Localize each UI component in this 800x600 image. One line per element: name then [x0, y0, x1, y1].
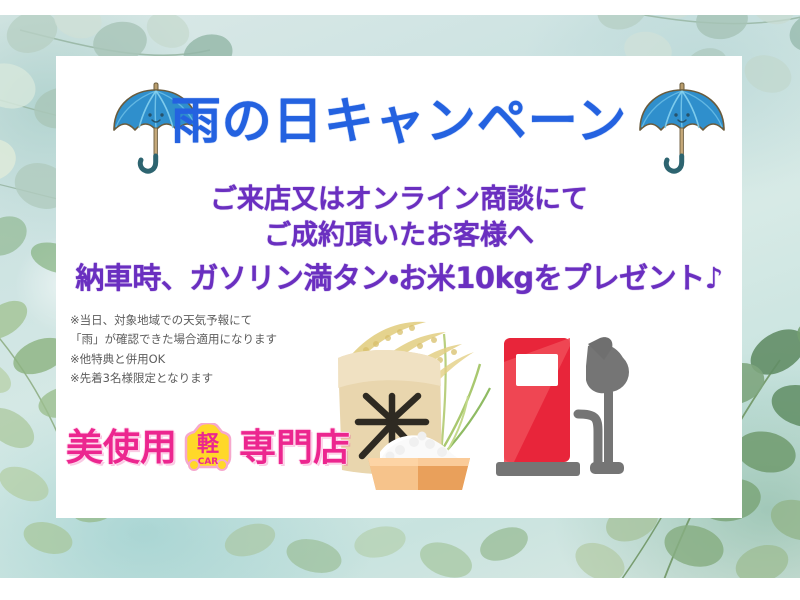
footnote-1: ※当日、対象地域での天気予報にて	[70, 311, 277, 330]
shop-logo: 美使用 軽 CAR 専門店	[66, 421, 350, 473]
page-title: 雨の日キャンペーン	[56, 96, 742, 146]
letterbox-top	[0, 0, 800, 15]
car-badge-shape-icon: 軽 CAR	[180, 423, 236, 471]
fuel-pump-icon	[492, 322, 648, 480]
campaign-poster: 雨の日キャンペーン ご来店又はオンライン商談にて ご成約頂いたお客様へ 納車時、…	[0, 0, 800, 600]
footnote-2: 「雨」が確認できた場合適用になります	[70, 330, 277, 349]
badge-sub-text: CAR	[198, 457, 219, 467]
subtitle-line-2: ご成約頂いたお客様へ	[56, 218, 742, 254]
offer-line: 納車時、ガソリン満タン・お米10kgをプレゼント♪	[56, 259, 742, 297]
logo-word-left: 美使用	[66, 429, 177, 466]
subtitle-line-1: ご来店又はオンライン商談にて	[56, 182, 742, 218]
letterbox-bottom	[0, 578, 800, 600]
footnote-3: ※他特典と併用OK	[70, 350, 277, 369]
logo-word-right: 専門店	[239, 429, 350, 466]
footnotes: ※当日、対象地域での天気予報にて 「雨」が確認できた場合適用になります ※他特典…	[70, 311, 277, 388]
kei-car-badge: 軽 CAR	[180, 423, 236, 471]
footnote-4: ※先着3名様限定となります	[70, 369, 277, 388]
badge-main-text: 軽	[197, 431, 220, 457]
offer-text-block: ご来店又はオンライン商談にて ご成約頂いたお客様へ 納車時、ガソリン満タン・お米…	[56, 182, 742, 298]
